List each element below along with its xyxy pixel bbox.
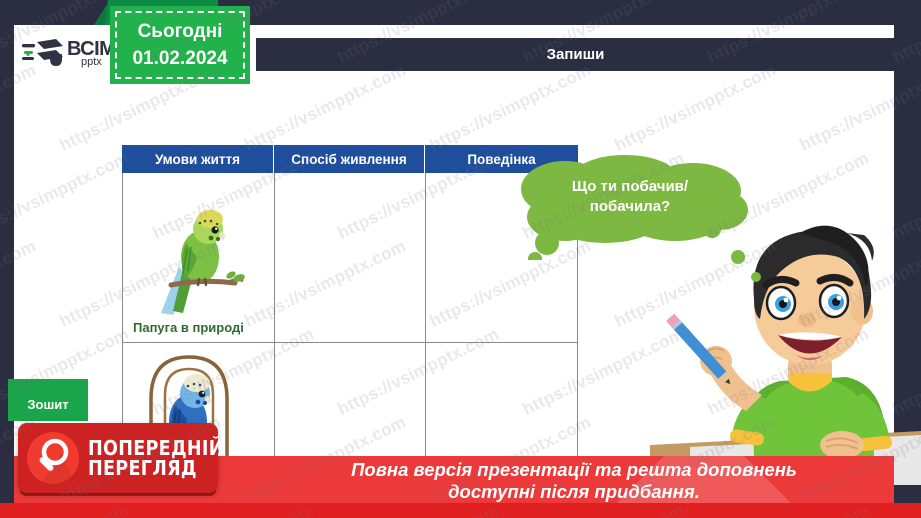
notebook-button-label: Зошит	[27, 397, 68, 412]
presentation-slide: Умови життя Спосіб живлення Поведінка	[0, 0, 921, 518]
preview-badge[interactable]: ПОПЕРЕДНІЙ ПЕРЕГЛЯД	[18, 423, 218, 493]
magnifier-icon	[27, 432, 79, 484]
table-column-divider-2	[425, 173, 426, 474]
green-parrot-on-branch-image	[153, 201, 249, 319]
date-badge-label: Сьогодні	[138, 21, 223, 43]
notebook-button[interactable]: Зошит	[8, 379, 88, 421]
preview-badge-line-2: ПЕРЕГЛЯД	[88, 458, 224, 478]
speech-bubble-line-2: побачила?	[505, 197, 755, 217]
speech-bubble-line-1: Що ти побачив/	[505, 177, 755, 197]
table-column-header-feeding-method: Спосіб живлення	[274, 145, 425, 173]
banner-bottom-strip	[0, 503, 921, 518]
table-column-divider-1	[274, 173, 275, 474]
purchase-banner-line-2: доступні після придбання.	[264, 481, 884, 503]
preview-badge-labels: ПОПЕРЕДНІЙ ПЕРЕГЛЯД	[88, 438, 242, 478]
date-badge-value: 01.02.2024	[132, 48, 227, 70]
today-date-badge: Сьогодні 01.02.2024	[110, 6, 250, 84]
preview-badge-line-1: ПОПЕРЕДНІЙ	[88, 438, 224, 458]
brand-logo[interactable]: ВСІМ pptx	[14, 25, 124, 83]
purchase-banner-line-1: Повна версія презентації та решта доповн…	[264, 459, 884, 481]
page-title: Запиши	[547, 46, 605, 63]
slide-title-bar: Запиши	[256, 38, 895, 71]
table-column-header-living-conditions: Умови життя	[122, 145, 274, 173]
purchase-banner-text: Повна версія презентації та решта доповн…	[264, 459, 884, 503]
speech-bubble: Що ти побачив/ побачила?	[505, 155, 755, 260]
table-row-label-nature: Папуга в природі	[133, 320, 244, 335]
speech-bubble-text: Що ти побачив/ побачила?	[505, 177, 755, 218]
graduation-cap-icon	[22, 38, 64, 70]
